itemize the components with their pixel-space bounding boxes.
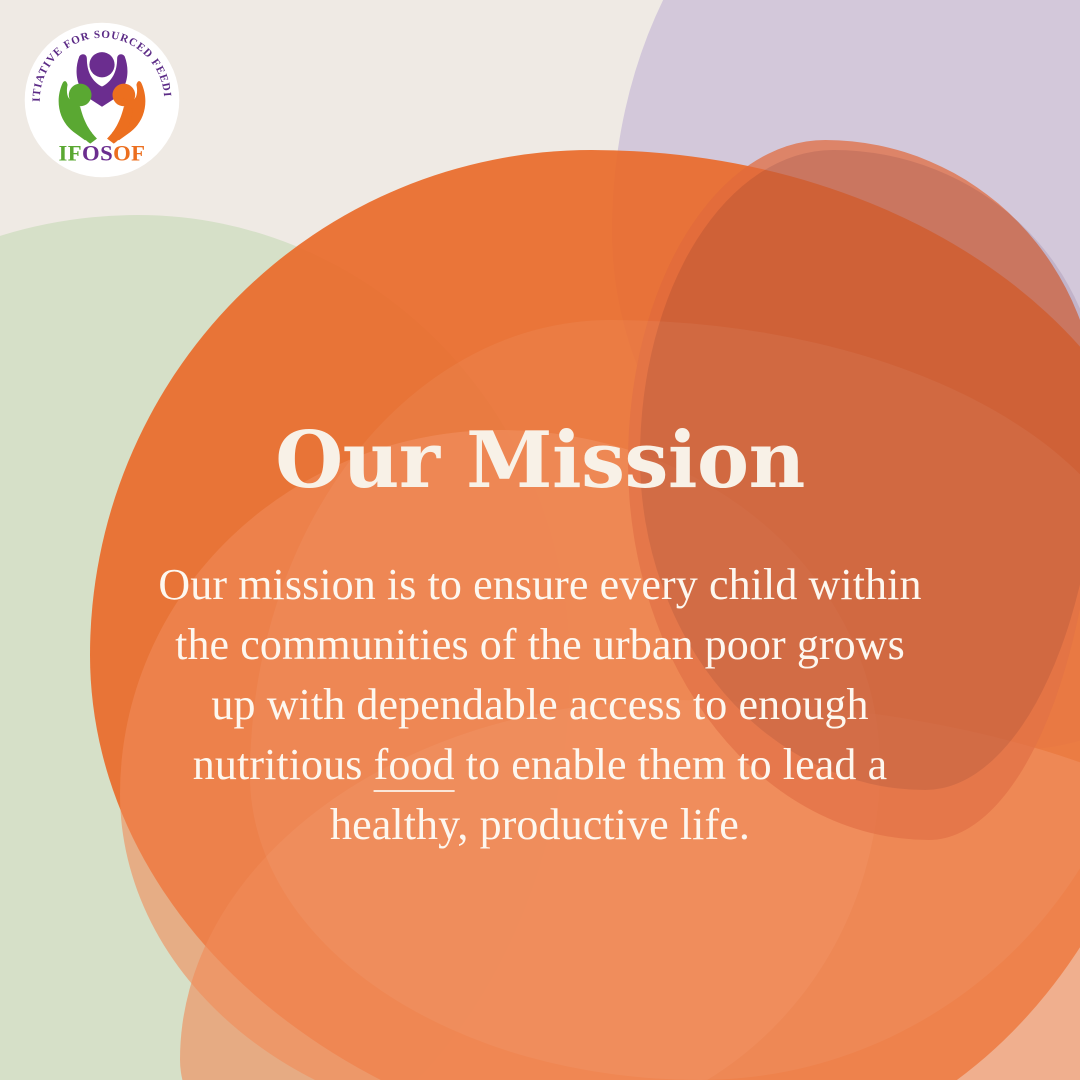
mission-poster: INITIATIVE FOR SOURCED FEEDING I: [0, 0, 1080, 1080]
mission-text-emphasis: food: [374, 740, 455, 789]
logo-wordmark-part-3: OF: [113, 140, 145, 165]
logo-svg: INITIATIVE FOR SOURCED FEEDING I: [18, 16, 186, 184]
logo-wordmark: IFOSOF: [59, 140, 146, 165]
ifosof-logo: INITIATIVE FOR SOURCED FEEDING I: [18, 16, 186, 184]
logo-wordmark-part-2: OS: [82, 140, 113, 165]
mission-statement: Our mission is to ensure every child wit…: [152, 555, 928, 855]
logo-wordmark-part-1: IF: [59, 140, 83, 165]
page-title: Our Mission: [0, 422, 1080, 500]
